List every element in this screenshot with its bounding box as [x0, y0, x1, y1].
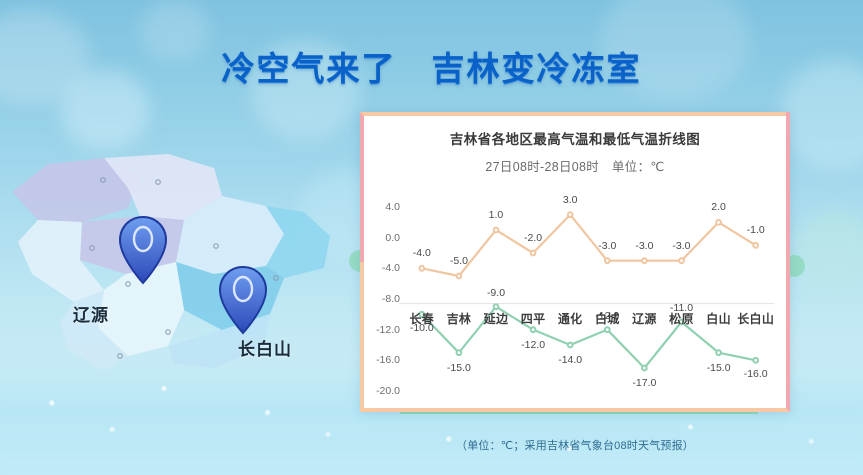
- chart-data-point: [531, 327, 536, 332]
- chart-data-point: [642, 258, 647, 263]
- chart-y-tick: -12.0: [366, 324, 400, 336]
- chart-series-line-0: [422, 215, 756, 276]
- chart-data-point: [605, 258, 610, 263]
- chart-x-label: 松原: [669, 310, 694, 327]
- chart-plot-area: -4.0-5.01.0-2.03.0-3.0-3.0-3.02.0-1.0-10…: [364, 181, 786, 399]
- chart-value-label: -3.0: [635, 240, 653, 252]
- chart-data-point: [605, 327, 610, 332]
- page-title: 冷空气来了 吉林变冷冻室: [0, 42, 863, 90]
- chart-y-tick: -8.0: [366, 293, 400, 305]
- chart-data-point: [568, 212, 573, 217]
- chart-card: 吉林省各地区最高气温和最低气温折线图 27日08时-28日08时 单位：℃ -4…: [360, 112, 790, 412]
- chart-x-label: 长白山: [737, 310, 774, 327]
- chart-value-label: -3.0: [598, 240, 616, 252]
- chart-data-point: [494, 228, 499, 233]
- chart-value-label: -2.0: [524, 232, 542, 244]
- chart-x-label: 四平: [521, 310, 546, 327]
- chart-y-tick: -20.0: [366, 385, 400, 397]
- chart-value-label: -15.0: [707, 362, 731, 374]
- chart-data-point: [753, 358, 758, 363]
- chart-y-tick: -4.0: [366, 262, 400, 274]
- chart-x-label: 白城: [595, 310, 620, 327]
- chart-x-label: 白山: [706, 310, 731, 327]
- chart-x-label: 长春: [409, 310, 434, 327]
- chart-value-label: 1.0: [489, 209, 504, 221]
- chart-subtitle: 27日08时-28日08时 单位：℃: [364, 156, 786, 175]
- chart-data-point: [568, 343, 573, 348]
- chart-x-label: 吉林: [447, 310, 472, 327]
- chart-value-label: -16.0: [744, 368, 768, 380]
- chart-value-label: -4.0: [413, 247, 431, 259]
- chart-data-point: [419, 266, 424, 271]
- map-label-changbaishan: 长白山: [238, 335, 292, 360]
- chart-data-point: [457, 350, 462, 355]
- chart-y-tick: -16.0: [366, 354, 400, 366]
- chart-y-tick: 0.0: [366, 232, 400, 244]
- chart-data-point: [642, 366, 647, 371]
- chart-value-label: -14.0: [558, 354, 582, 366]
- chart-data-point: [457, 274, 462, 279]
- chart-value-label: -17.0: [632, 377, 656, 389]
- chart-value-label: -9.0: [487, 287, 505, 299]
- chart-value-label: -5.0: [450, 255, 468, 267]
- chart-value-label: -12.0: [521, 339, 545, 351]
- chart-caption: （单位：℃；采用吉林省气象台08时天气预报）: [360, 437, 790, 453]
- chart-value-label: 3.0: [563, 194, 578, 206]
- chart-data-point: [679, 258, 684, 263]
- chart-value-label: -3.0: [672, 240, 690, 252]
- chart-data-point: [494, 304, 499, 309]
- chart-value-label: -1.0: [747, 224, 765, 236]
- chart-data-point: [716, 220, 721, 225]
- chart-data-point: [531, 251, 536, 256]
- chart-data-point: [716, 350, 721, 355]
- chart-x-label: 通化: [558, 310, 583, 327]
- chart-title: 吉林省各地区最高气温和最低气温折线图: [364, 128, 786, 148]
- jilin-province-map: 辽源 长白山: [8, 150, 338, 380]
- chart-x-label: 延边: [484, 310, 509, 327]
- chart-x-label: 辽源: [632, 310, 657, 327]
- chart-value-label: 2.0: [711, 201, 726, 213]
- chart-y-tick: 4.0: [366, 201, 400, 213]
- chart-data-point: [753, 243, 758, 248]
- chart-value-label: -15.0: [447, 362, 471, 374]
- map-label-liaoyuan: 辽源: [73, 301, 109, 326]
